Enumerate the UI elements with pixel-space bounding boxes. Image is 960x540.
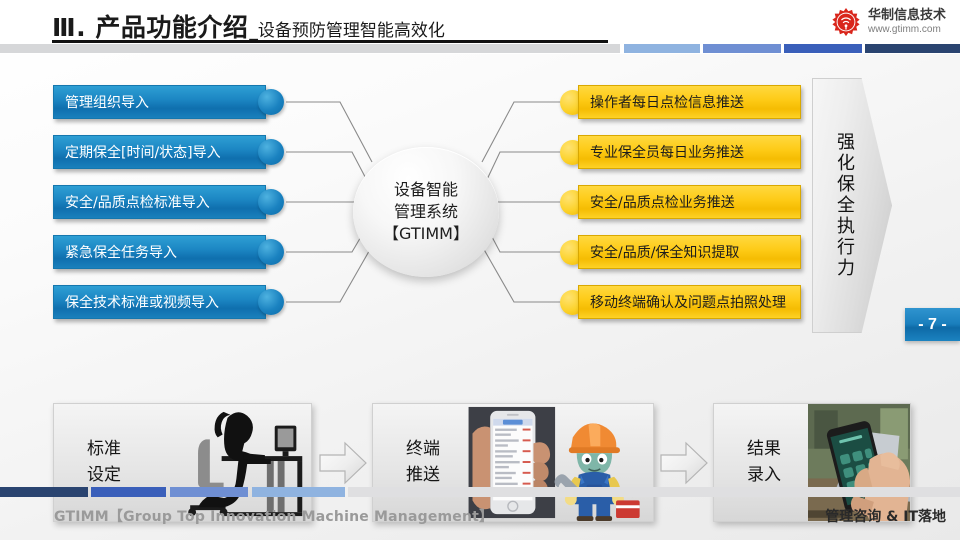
logo-website: www.gtimm.com (868, 24, 946, 36)
person-at-desk-silhouette (148, 404, 311, 521)
diagram-area: 管理组织导入 定期保全[时间/状态]导入 安全/品质点检标准导入 紧急保全任务导… (0, 54, 960, 484)
input-box-2-label: 定期保全[时间/状态]导入 (65, 142, 221, 162)
output-box-5[interactable]: 移动终端确认及问题点拍照处理 (578, 285, 801, 319)
footer-brand-text: GTIMM【Group Top Innovation Machine Manag… (54, 506, 493, 526)
header-bar-2 (703, 44, 781, 53)
footer-bar-3 (170, 487, 248, 497)
center-node-line3: 【GTIMM】 (383, 223, 469, 245)
result-arrow-label: 强化保全执行力 (835, 132, 853, 279)
gear-icon (831, 7, 861, 37)
input-box-1-label: 管理组织导入 (65, 92, 149, 112)
flow-step-result[interactable]: 结果 录入 (713, 403, 911, 522)
flow-step-result-line2: 录入 (720, 463, 808, 489)
right-arrow-icon-2 (658, 437, 710, 489)
output-box-5-label: 移动终端确认及问题点拍照处理 (590, 292, 786, 312)
input-dot-5 (258, 289, 284, 315)
title-underline (52, 40, 608, 43)
center-node-line1: 设备智能 (394, 179, 458, 201)
input-dot-2 (258, 139, 284, 165)
phone-in-hand-and-worker-mascot (467, 404, 653, 521)
input-box-1[interactable]: 管理组织导入 (53, 85, 266, 119)
input-box-2[interactable]: 定期保全[时间/状态]导入 (53, 135, 266, 169)
output-box-1-label: 操作者每日点检信息推送 (590, 92, 744, 112)
page-title-main: Ⅲ. 产品功能介绍 (52, 13, 248, 42)
slide-header: Ⅲ. 产品功能介绍_设备预防管理智能高效化 (0, 0, 960, 54)
flow-step-push[interactable]: 终端 推送 (372, 403, 654, 522)
header-bar-gray (0, 44, 620, 53)
slide-canvas: Ⅲ. 产品功能介绍_设备预防管理智能高效化 (0, 0, 960, 540)
output-box-4-label: 安全/品质/保全知识提取 (590, 242, 739, 262)
logo-text: 华制信息技术 www.gtimm.com (868, 9, 946, 35)
output-box-4[interactable]: 安全/品质/保全知识提取 (578, 235, 801, 269)
footer-bar-4 (252, 487, 345, 497)
output-box-3[interactable]: 安全/品质点检业务推送 (578, 185, 801, 219)
output-box-3-label: 安全/品质点检业务推送 (590, 192, 735, 212)
input-box-3[interactable]: 安全/品质点检标准导入 (53, 185, 266, 219)
input-box-4-label: 紧急保全任务导入 (65, 242, 177, 262)
footer-bar-2 (91, 487, 166, 497)
input-box-5-label: 保全技术标准或视频导入 (65, 292, 219, 312)
flow-step-standard-line1: 标准 (60, 437, 148, 463)
result-arrow-shape: 强化保全执行力 (812, 78, 892, 333)
flow-step-standard[interactable]: 标准 设定 (53, 403, 312, 522)
flow-step-push-line1: 终端 (379, 437, 467, 463)
center-node-line2: 管理系统 (394, 201, 458, 223)
flow-step-push-line2: 推送 (379, 463, 467, 489)
flow-step-standard-label: 标准 设定 (60, 437, 148, 488)
flow-step-push-label: 终端 推送 (379, 437, 467, 488)
input-box-5[interactable]: 保全技术标准或视频导入 (53, 285, 266, 319)
header-bar-1 (624, 44, 700, 53)
header-bar-3 (784, 44, 862, 53)
input-dot-4 (258, 239, 284, 265)
center-node-system[interactable]: 设备智能 管理系统 【GTIMM】 (353, 147, 499, 277)
flow-step-result-label: 结果 录入 (720, 437, 808, 488)
footer-bar-gray (348, 487, 960, 497)
flow-step-result-line1: 结果 (720, 437, 808, 463)
footer-bar-1 (0, 487, 88, 497)
page-title: Ⅲ. 产品功能介绍_设备预防管理智能高效化 (52, 8, 445, 44)
hand-holding-smartphone-photo (808, 404, 910, 521)
input-dot-1 (258, 89, 284, 115)
company-logo: 华制信息技术 www.gtimm.com (831, 7, 946, 37)
page-number-badge: - 7 - (905, 308, 960, 341)
output-box-1[interactable]: 操作者每日点检信息推送 (578, 85, 801, 119)
header-bar-4 (865, 44, 960, 53)
page-title-sub: _设备预防管理智能高效化 (249, 21, 445, 41)
output-box-2[interactable]: 专业保全员每日业务推送 (578, 135, 801, 169)
footer-tagline: 管理咨询 & IT落地 (825, 506, 946, 526)
input-dot-3 (258, 189, 284, 215)
right-arrow-icon-1 (317, 437, 369, 489)
logo-company-name: 华制信息技术 (868, 9, 946, 24)
input-box-3-label: 安全/品质点检标准导入 (65, 192, 210, 212)
flow-step-standard-line2: 设定 (60, 463, 148, 489)
output-box-2-label: 专业保全员每日业务推送 (590, 142, 744, 162)
input-box-4[interactable]: 紧急保全任务导入 (53, 235, 266, 269)
